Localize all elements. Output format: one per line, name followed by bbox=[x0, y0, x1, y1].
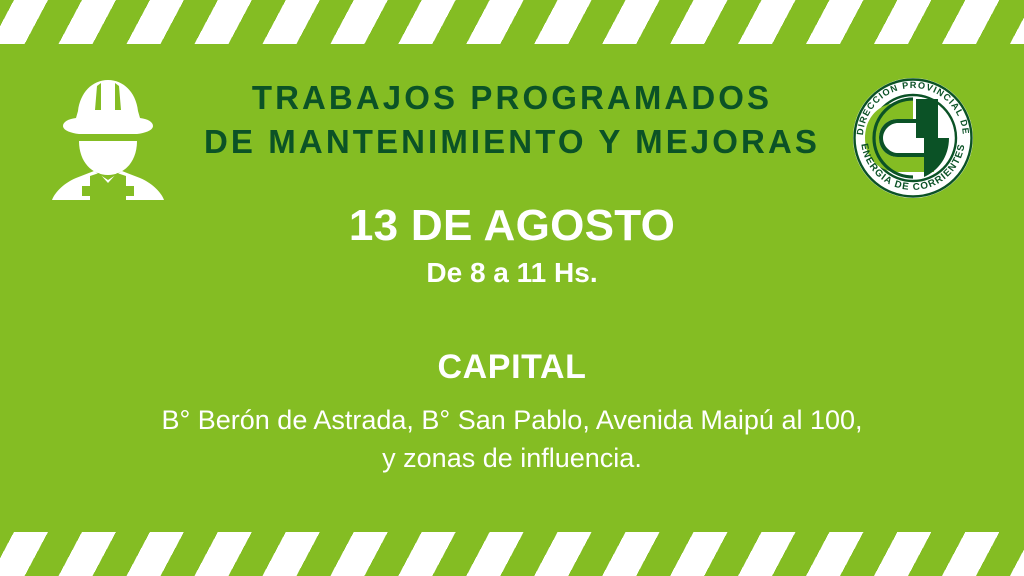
page-title: TRABAJOS PROGRAMADOS DE MANTENIMIENTO Y … bbox=[180, 76, 844, 164]
location-zones-line-1: B° Berón de Astrada, B° San Pablo, Aveni… bbox=[0, 401, 1024, 439]
location-zones: B° Berón de Astrada, B° San Pablo, Aveni… bbox=[0, 401, 1024, 477]
location-block: CAPITAL B° Berón de Astrada, B° San Pabl… bbox=[0, 345, 1024, 477]
maintenance-announcement-poster: TRABAJOS PROGRAMADOS DE MANTENIMIENTO Y … bbox=[0, 0, 1024, 576]
page-title-line-1: TRABAJOS PROGRAMADOS bbox=[180, 76, 844, 120]
schedule-block: 13 DE AGOSTO De 8 a 11 Hs. bbox=[0, 200, 1024, 292]
hazard-stripe-band-top bbox=[0, 0, 1024, 44]
hazard-stripe-band-bottom bbox=[0, 532, 1024, 576]
schedule-time: De 8 a 11 Hs. bbox=[0, 254, 1024, 292]
page-title-line-2: DE MANTENIMIENTO Y MEJORAS bbox=[180, 120, 844, 164]
schedule-date: 13 DE AGOSTO bbox=[0, 200, 1024, 252]
construction-worker-icon bbox=[46, 74, 170, 200]
energia-corrientes-logo: DIRECCION PROVINCIAL DE ENERGIA DE CORRI… bbox=[846, 74, 980, 200]
location-zones-line-2: y zonas de influencia. bbox=[0, 439, 1024, 477]
location-locality: CAPITAL bbox=[0, 345, 1024, 389]
